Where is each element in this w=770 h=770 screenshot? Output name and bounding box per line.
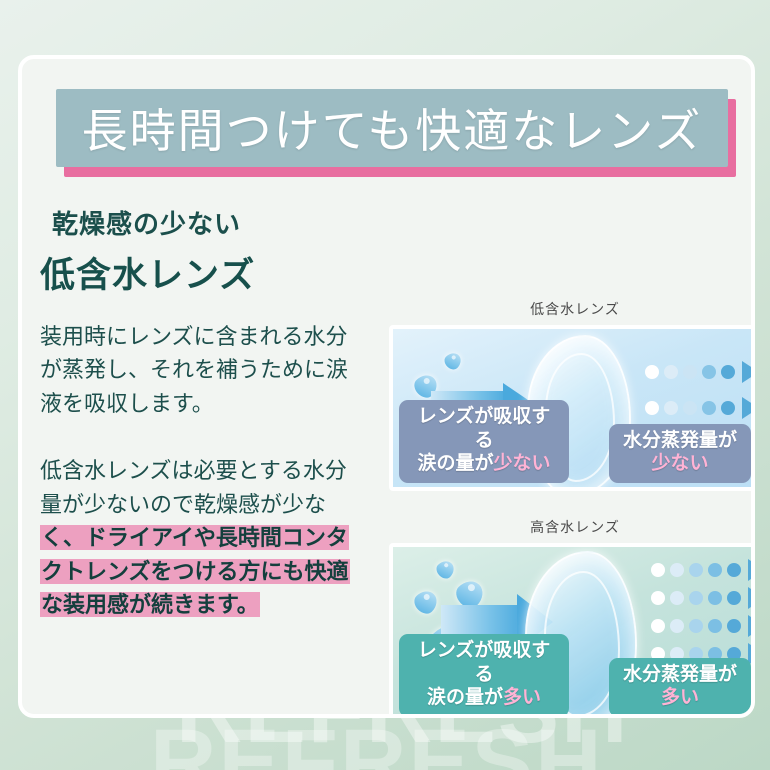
evaporation-arrow-icon	[742, 361, 755, 383]
paragraph-one: 装用時にレンズに含まれる水分が蒸発し、それを補うために涙液を吸収します。	[40, 320, 352, 420]
content-card: 長時間つけても快適なレンズ 乾燥感の少ない 低含水レンズ 装用時にレンズに含まれ…	[18, 55, 755, 718]
diagram-high-water-lens: 高含水レンズ	[389, 517, 755, 718]
panel-caption-low-water: 低含水レンズ	[389, 299, 755, 319]
label-tear-absorption-high: レンズが吸収する 涙の量が多い	[399, 634, 569, 717]
evaporation-arrow-icon	[748, 587, 755, 609]
evaporation-dot	[645, 401, 659, 415]
paragraph-two-plain: 低含水レンズは必要とする水分量が少ないので乾燥感が少な	[40, 458, 347, 516]
evaporation-dot	[670, 563, 684, 577]
chip-line-1: 水分蒸発量が	[623, 430, 737, 451]
water-droplet	[433, 557, 457, 581]
chip-line-2-prefix: 涙の量が	[417, 453, 493, 474]
evaporation-dot	[708, 563, 722, 577]
label-evaporation-low: 水分蒸発量が 少ない	[609, 424, 751, 483]
evaporation-dot	[651, 591, 665, 605]
chip-amount: 多い	[661, 687, 699, 708]
evaporation-dot	[727, 563, 741, 577]
evaporation-dot	[683, 401, 697, 415]
evaporation-dot	[702, 401, 716, 415]
chip-line-1: 水分蒸発量が	[623, 664, 737, 685]
evaporation-dot	[651, 563, 665, 577]
panel-body-low-water: レンズが吸収する 涙の量が少ない 水分蒸発量が 少ない	[389, 325, 755, 491]
evaporation-dot	[670, 619, 684, 633]
evaporation-dot-row	[645, 361, 755, 383]
evaporation-dot-row	[645, 397, 755, 419]
chip-amount: 多い	[503, 687, 541, 708]
evaporation-arrow-icon	[748, 615, 755, 637]
evaporation-arrow-icon	[742, 397, 755, 419]
chip-line-2-prefix: 涙の量が	[427, 687, 503, 708]
evaporation-dot	[645, 365, 659, 379]
evaporation-arrow-icon	[748, 559, 755, 581]
evaporation-dot	[727, 619, 741, 633]
water-droplet	[410, 586, 441, 617]
evaporation-dot	[664, 365, 678, 379]
evaporation-dot	[651, 619, 665, 633]
page-title: 長時間つけても快適なレンズ	[82, 95, 703, 161]
evaporation-dot	[664, 401, 678, 415]
evaporation-dot	[670, 591, 684, 605]
chip-line-1: レンズが吸収する	[418, 640, 551, 685]
chip-amount: 少ない	[651, 453, 708, 474]
evaporation-dot	[702, 365, 716, 379]
evaporation-dot	[708, 619, 722, 633]
evaporation-dot	[721, 365, 735, 379]
paragraph-two: 低含水レンズは必要とする水分量が少ないので乾燥感が少なく、ドライアイや長時間コン…	[40, 454, 358, 621]
evaporation-dot	[683, 365, 697, 379]
diagram-low-water-lens: 低含水レンズ	[389, 299, 755, 491]
section-subheading: 乾燥感の少ない	[52, 204, 370, 241]
chip-amount: 少ない	[494, 453, 551, 474]
evaporation-dot	[727, 591, 741, 605]
label-evaporation-high: 水分蒸発量が 多い	[609, 658, 751, 717]
watermark-text-5: REFRESH	[150, 716, 604, 770]
evaporation-dot-row	[651, 615, 755, 637]
banner-body: 長時間つけても快適なレンズ	[56, 89, 728, 167]
left-text-column: 乾燥感の少ない 低含水レンズ 装用時にレンズに含まれる水分が蒸発し、それを補うた…	[40, 204, 370, 622]
paragraph-two-highlight: く、ドライアイや長時間コンタクトレンズをつける方にも快適な装用感が続きます。	[40, 525, 350, 617]
section-heading: 低含水レンズ	[40, 247, 370, 298]
panel-caption-high-water: 高含水レンズ	[389, 517, 755, 537]
evaporation-dot	[689, 619, 703, 633]
evaporation-dot	[689, 563, 703, 577]
infographic-root: TO YOUR EYES THAT EVERY DAY REFRESH REFR…	[0, 0, 770, 770]
evaporation-dot-row	[651, 559, 755, 581]
panel-body-high-water: レンズが吸収する 涙の量が多い 水分蒸発量が 多い	[389, 543, 755, 718]
title-banner: 長時間つけても快適なレンズ	[56, 89, 728, 167]
chip-line-1: レンズが吸収する	[418, 406, 551, 451]
evaporation-dot	[721, 401, 735, 415]
evaporation-dot	[689, 591, 703, 605]
label-tear-absorption-low: レンズが吸収する 涙の量が少ない	[399, 400, 569, 483]
water-droplet	[442, 350, 465, 373]
evaporation-dot	[708, 591, 722, 605]
evaporation-dot-row	[651, 587, 755, 609]
